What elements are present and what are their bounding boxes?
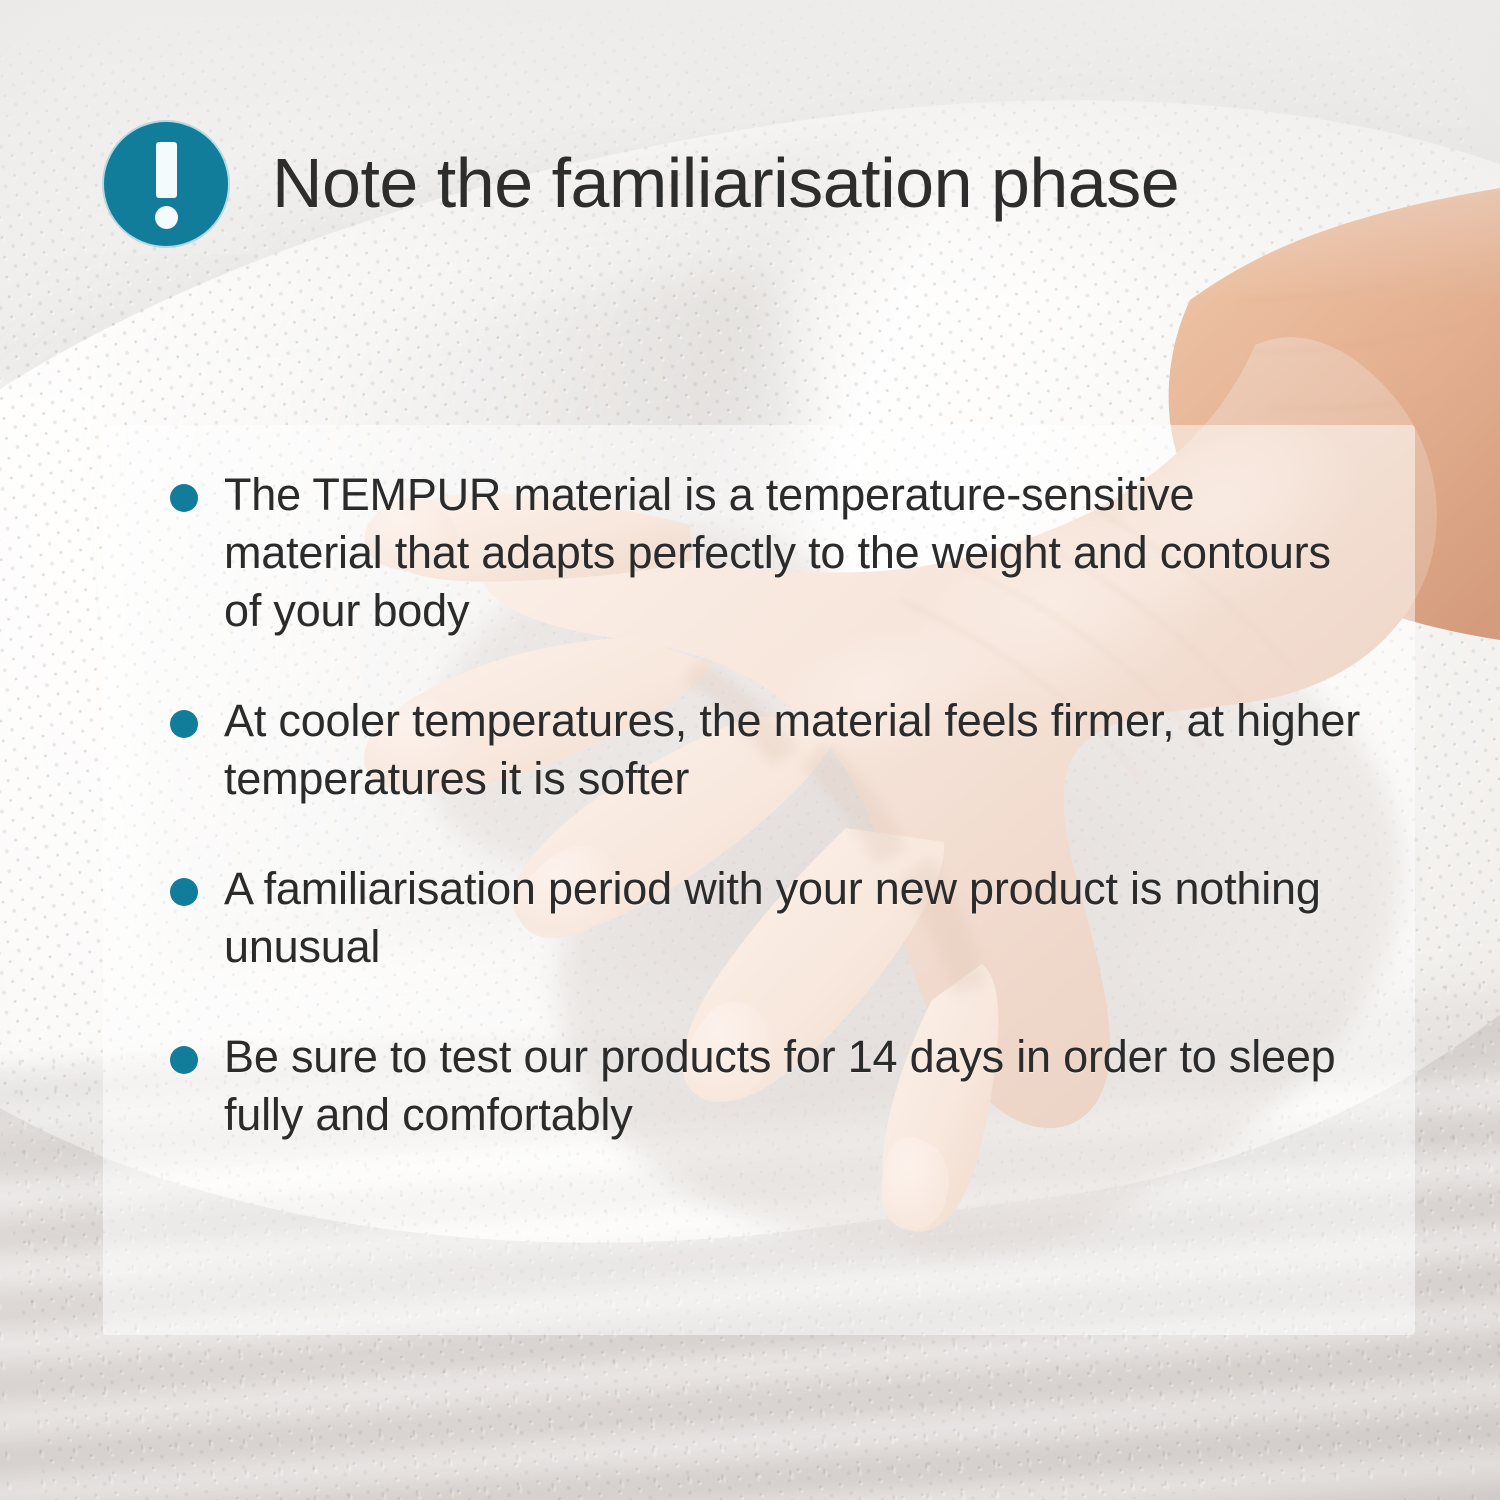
- exclamation-dot: [155, 206, 178, 229]
- list-item: Be sure to test our products for 14 days…: [170, 1028, 1360, 1144]
- list-item-text: The TEMPUR material is a temperature-sen…: [224, 466, 1360, 640]
- list-item: At cooler temperatures, the material fee…: [170, 692, 1360, 808]
- exclamation-bar: [156, 142, 177, 198]
- list-item-text: Be sure to test our products for 14 days…: [224, 1028, 1360, 1144]
- list-item-text: At cooler temperatures, the material fee…: [224, 692, 1360, 808]
- bullet-dot-icon: [170, 1046, 198, 1074]
- list-item-text: A familiarisation period with your new p…: [224, 860, 1360, 976]
- bullet-dot-icon: [170, 710, 198, 738]
- bullet-list: The TEMPUR material is a temperature-sen…: [170, 466, 1360, 1144]
- bullet-dot-icon: [170, 484, 198, 512]
- bullet-dot-icon: [170, 878, 198, 906]
- infographic-canvas: Note the familiarisation phase The TEMPU…: [0, 0, 1500, 1500]
- page-title: Note the familiarisation phase: [272, 148, 1179, 219]
- header: Note the familiarisation phase: [104, 122, 1179, 246]
- list-item: The TEMPUR material is a temperature-sen…: [170, 466, 1360, 640]
- list-item: A familiarisation period with your new p…: [170, 860, 1360, 976]
- exclamation-circle-icon: [104, 122, 228, 246]
